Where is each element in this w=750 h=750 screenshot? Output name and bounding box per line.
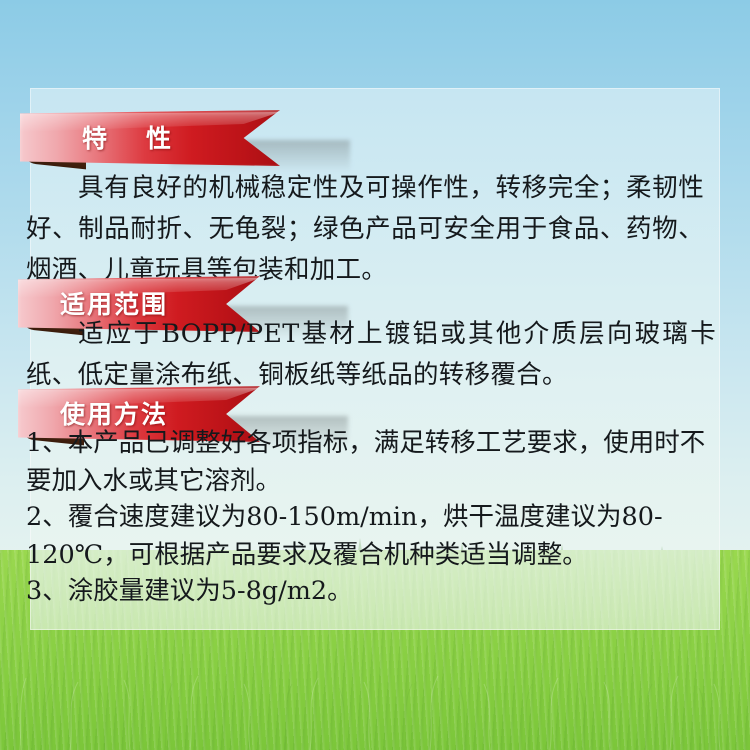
ribbon-banner-features: 特 性 bbox=[20, 110, 280, 166]
usage-item-3: 3、涂胶量建议为5-8g/m2。 bbox=[26, 572, 716, 610]
ribbon-label-features: 特 性 bbox=[82, 119, 187, 155]
usage-item-2: 2、覆合速度建议为80-150m/min，烘干温度建议为80-120℃，可根据产… bbox=[26, 498, 716, 574]
usage-item-1: 1、本产品已调整好各项指标，满足转移工艺要求，使用时不要加入水或其它溶剂。 bbox=[26, 424, 716, 500]
scope-body-text: 适应于BOPP/PET基材上镀铝或其他介质层向玻璃卡纸、低定量涂布纸、铜板纸等纸… bbox=[26, 314, 716, 396]
product-spec-poster: 特 性 具有良好的机械稳定性及可操作性，转移完全；柔韧性好、制品耐折、无龟裂；绿… bbox=[0, 0, 750, 750]
features-body-text: 具有良好的机械稳定性及可操作性，转移完全；柔韧性好、制品耐折、无龟裂；绿色产品可… bbox=[26, 168, 704, 291]
